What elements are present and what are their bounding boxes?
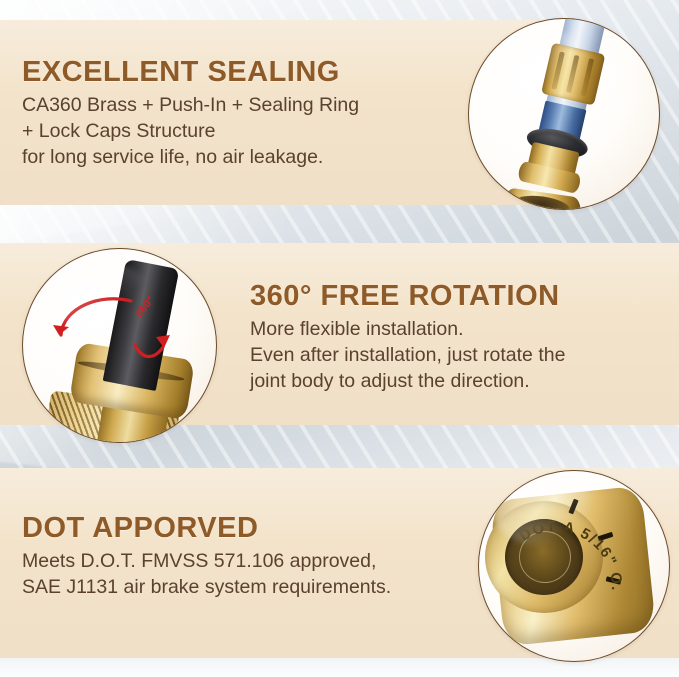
infographic-canvas: EXCELLENT SEALING CA360 Brass + Push-In …	[0, 0, 679, 677]
body-line: SAE J1131 air brake system requirements.	[22, 575, 391, 601]
product-photo-dot-nut: DOT A 5/16" O.D	[478, 470, 670, 662]
dot-engraving-textpath: DOT A 5/16" O.D	[509, 498, 625, 592]
body-line: Even after installation, just rotate the	[250, 343, 565, 369]
body-line: for long service life, no air leakage.	[22, 145, 359, 171]
text-block-free-rotation: 360° FREE ROTATION More flexible install…	[250, 281, 565, 395]
heading-excellent-sealing: EXCELLENT SEALING	[22, 57, 359, 87]
body-line: More flexible installation.	[250, 317, 565, 343]
product-photo-sealing-fitting	[468, 18, 660, 210]
text-block-dot-approved: DOT APPORVED Meets D.O.T. FMVSS 571.106 …	[22, 513, 391, 601]
dot-engraving: DOT A 5/16" O.D	[515, 511, 633, 629]
dot-engraving-text: DOT A 5/16" O.D	[509, 498, 625, 592]
body-line: joint body to adjust the direction.	[250, 369, 565, 395]
fitting-exploded-stack	[468, 18, 660, 210]
body-line: CA360 Brass + Push-In + Sealing Ring	[22, 93, 359, 119]
body-line: + Lock Caps Structure	[22, 119, 359, 145]
heading-dot-approved: DOT APPORVED	[22, 513, 391, 543]
cap-bore-icon	[513, 193, 571, 210]
product-photo-rotation-joint: 360°	[22, 248, 217, 443]
body-free-rotation: More flexible installation. Even after i…	[250, 317, 565, 395]
heading-free-rotation: 360° FREE ROTATION	[250, 281, 565, 311]
text-block-excellent-sealing: EXCELLENT SEALING CA360 Brass + Push-In …	[22, 57, 359, 171]
body-excellent-sealing: CA360 Brass + Push-In + Sealing Ring + L…	[22, 93, 359, 171]
body-dot-approved: Meets D.O.T. FMVSS 571.106 approved, SAE…	[22, 549, 391, 601]
rotation-arrow-icon	[23, 249, 216, 442]
body-line: Meets D.O.T. FMVSS 571.106 approved,	[22, 549, 391, 575]
